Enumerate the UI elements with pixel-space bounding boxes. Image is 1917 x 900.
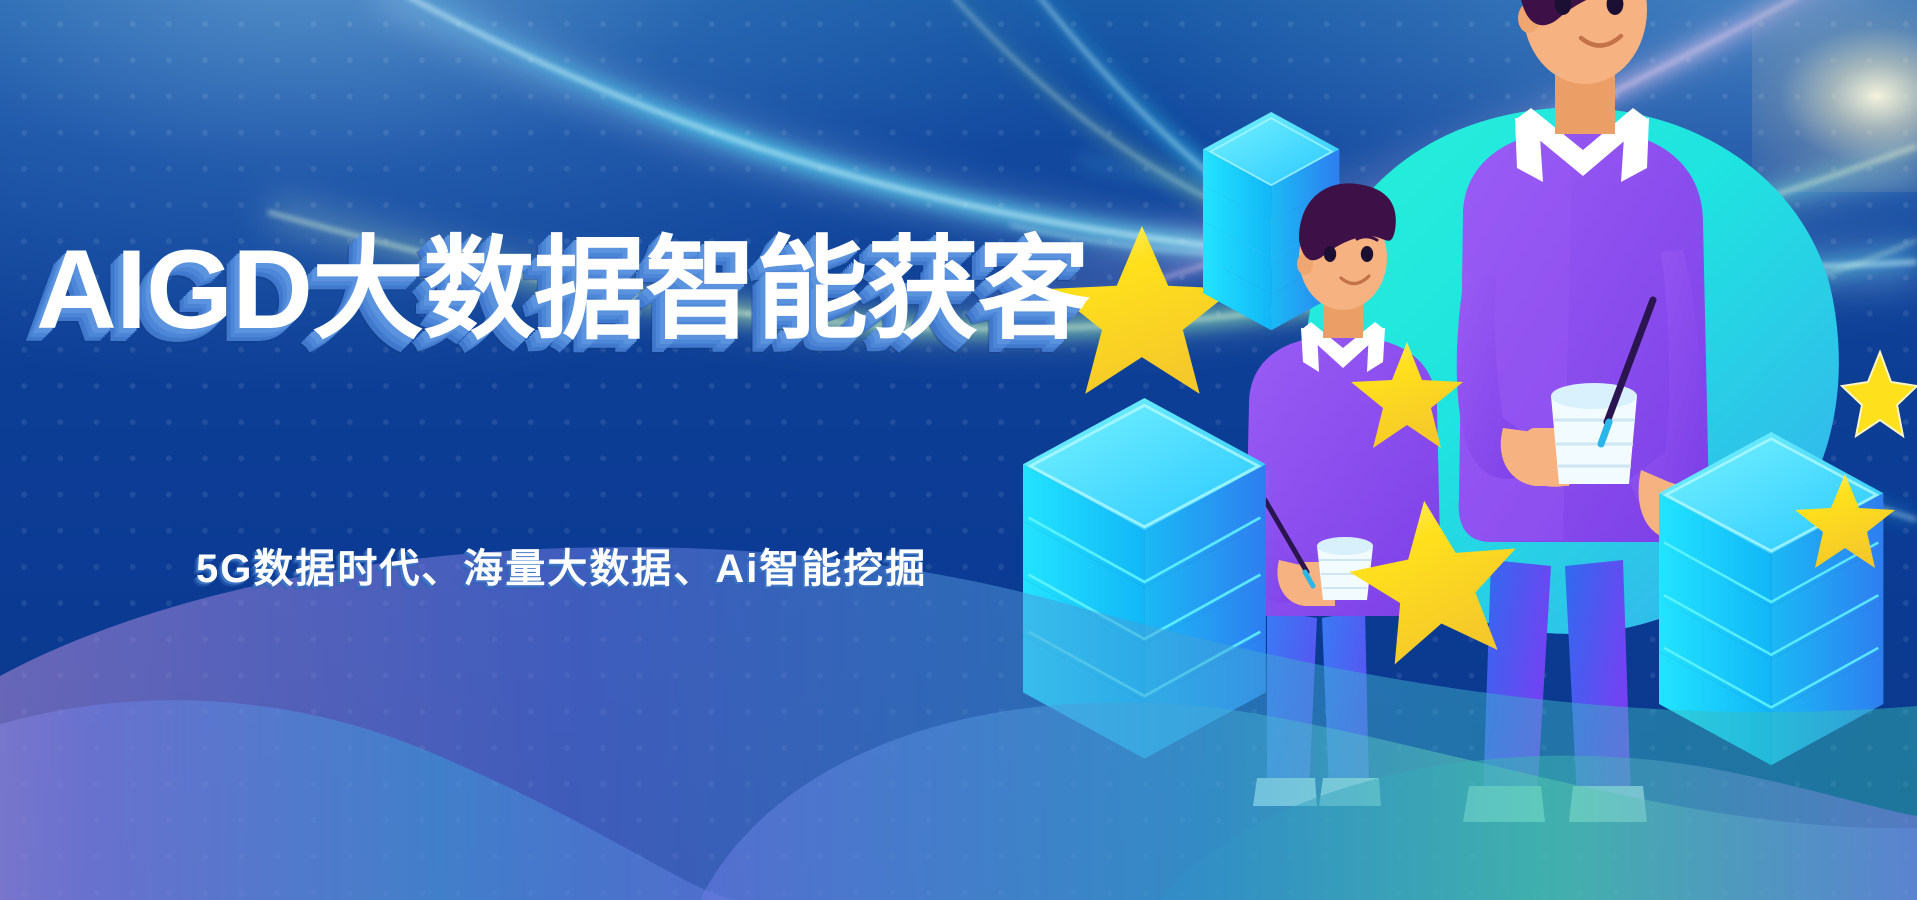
promo-banner: AIGD大数据智能获客 5G数据时代、海量大数据、Ai智能挖掘	[0, 0, 1917, 900]
page-subtitle: 5G数据时代、海量大数据、Ai智能挖掘	[196, 536, 927, 594]
page-title: AIGD大数据智能获客	[36, 234, 1089, 346]
bottom-hills	[0, 0, 1917, 900]
